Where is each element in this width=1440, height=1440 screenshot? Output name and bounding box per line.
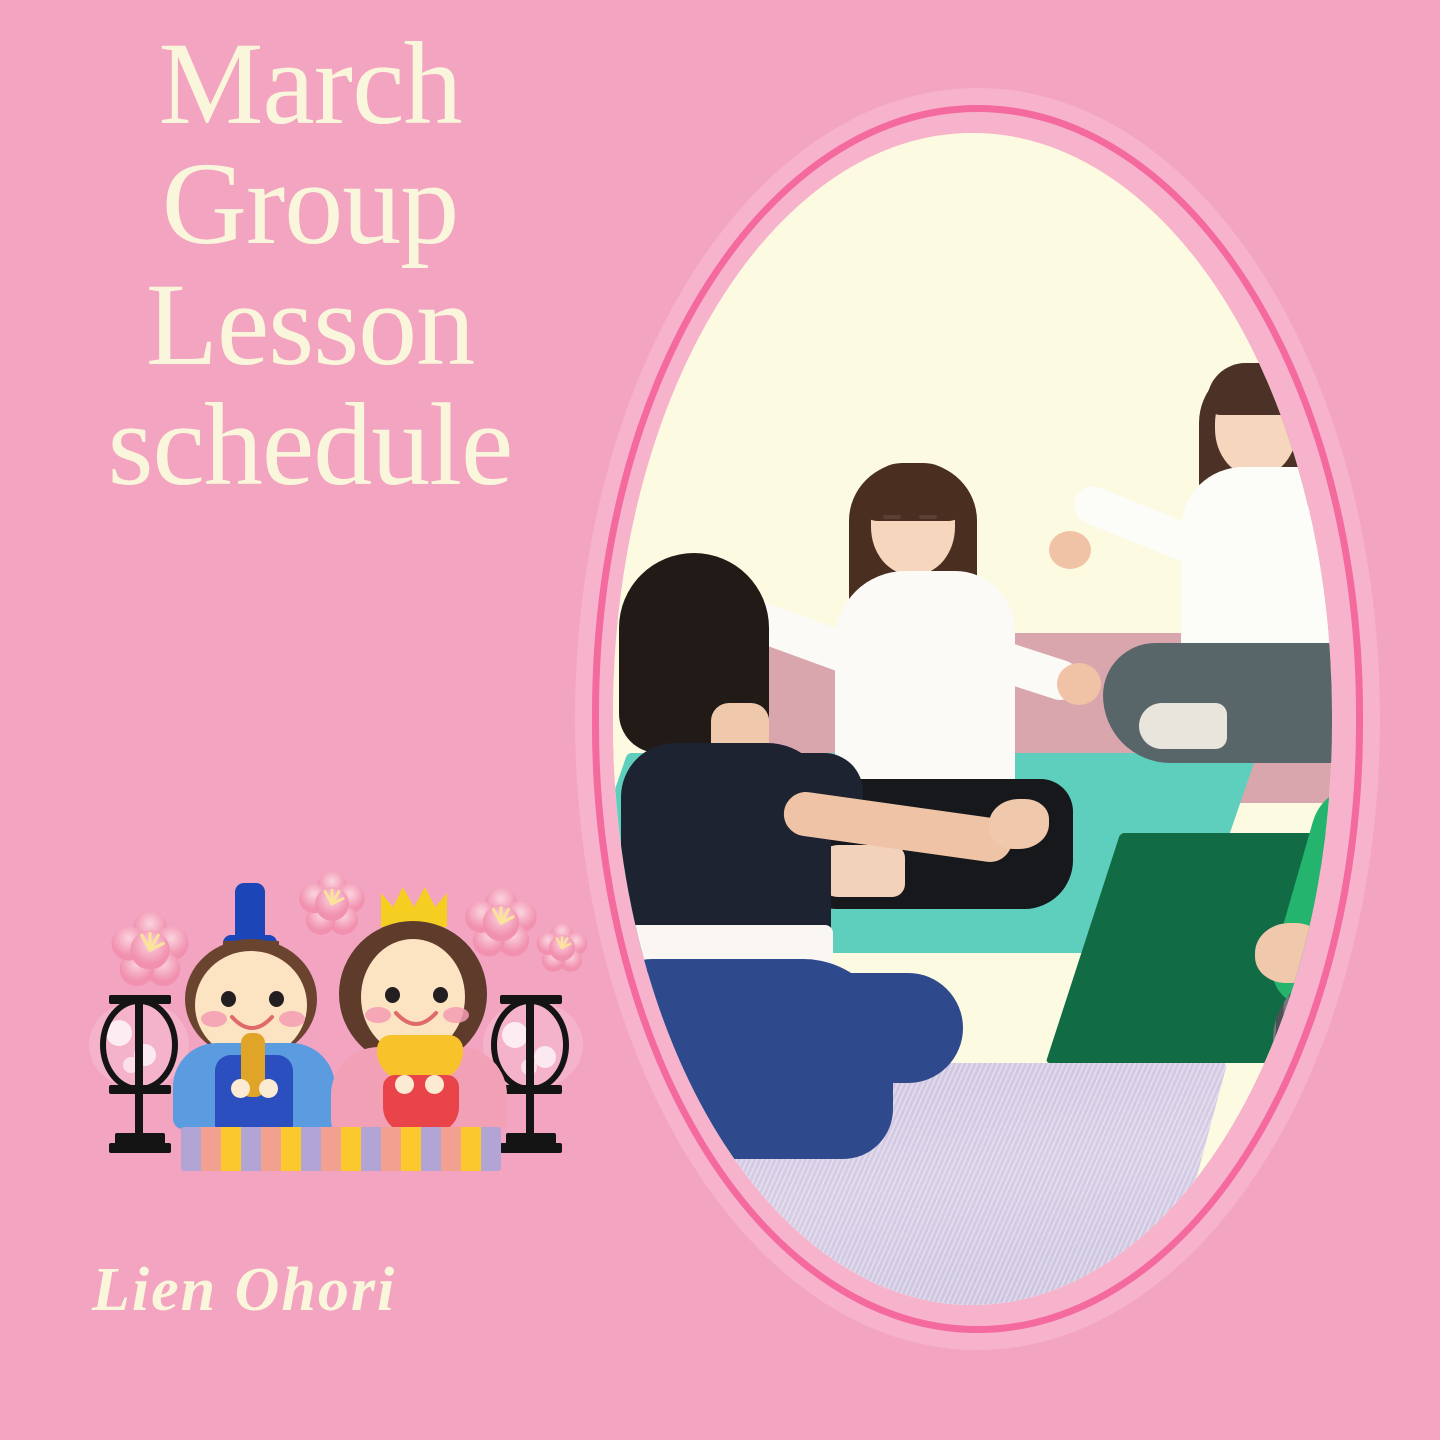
hand-right (425, 1075, 444, 1094)
smile-icon (391, 1009, 441, 1035)
dais-stripe (361, 1127, 381, 1171)
title-line-2: Group (0, 144, 620, 264)
title-line-3: Lesson (0, 265, 620, 385)
dais-stripe (221, 1127, 241, 1171)
dais-stripe (461, 1127, 481, 1171)
person-right-edge (1233, 773, 1332, 1123)
person-back-right (1133, 363, 1332, 793)
cheek-left (365, 1007, 391, 1023)
dais-stripe (401, 1127, 421, 1171)
title-line-1: March (0, 24, 620, 144)
dais-stripe (281, 1127, 301, 1171)
artist-signature: Lien Ohori (92, 1255, 396, 1326)
dais-stripe (441, 1127, 461, 1171)
dais-stripe (381, 1127, 401, 1171)
eye-right (269, 991, 284, 1007)
eye-left (385, 987, 400, 1003)
yoga-photo (613, 133, 1332, 1305)
title-line-4: schedule (0, 385, 620, 505)
hinamatsuri-illustration (85, 855, 585, 1195)
person-foreground (613, 553, 1013, 1193)
foot (1139, 703, 1227, 749)
poster-canvas: March Group Lesson schedule (0, 0, 1440, 1440)
hand-right (259, 1079, 278, 1098)
striped-dais (181, 1127, 501, 1171)
plum-blossom-icon (535, 921, 589, 975)
dais-stripe (261, 1127, 281, 1171)
photo-oval-frame (575, 88, 1380, 1350)
dais-stripe (181, 1127, 201, 1171)
hand-left (231, 1079, 250, 1098)
eye-left (221, 991, 236, 1007)
hand-left (395, 1075, 414, 1094)
dais-stripe (301, 1127, 321, 1171)
mat-brand-logo-icon (1043, 1293, 1077, 1305)
hair-front (861, 463, 965, 521)
dais-stripe (321, 1127, 341, 1171)
cheek-right (443, 1007, 469, 1023)
dais-stripe (421, 1127, 441, 1171)
thigh-blue-leggings (773, 973, 963, 1083)
dais-stripe (201, 1127, 221, 1171)
hand-right (1057, 663, 1101, 705)
eye-left (883, 515, 901, 519)
cheek-left (201, 1011, 227, 1027)
dais-stripe (481, 1127, 501, 1171)
emperor-doll (179, 883, 329, 1133)
hand-mudra (989, 799, 1049, 849)
dais-stripe (341, 1127, 361, 1171)
page-title: March Group Lesson schedule (0, 24, 620, 505)
cheek-right (279, 1011, 305, 1027)
eye-right (433, 987, 448, 1003)
empress-doll (333, 883, 493, 1133)
hair-front (1207, 363, 1311, 415)
dais-stripe (241, 1127, 261, 1171)
eye-right (919, 515, 937, 519)
